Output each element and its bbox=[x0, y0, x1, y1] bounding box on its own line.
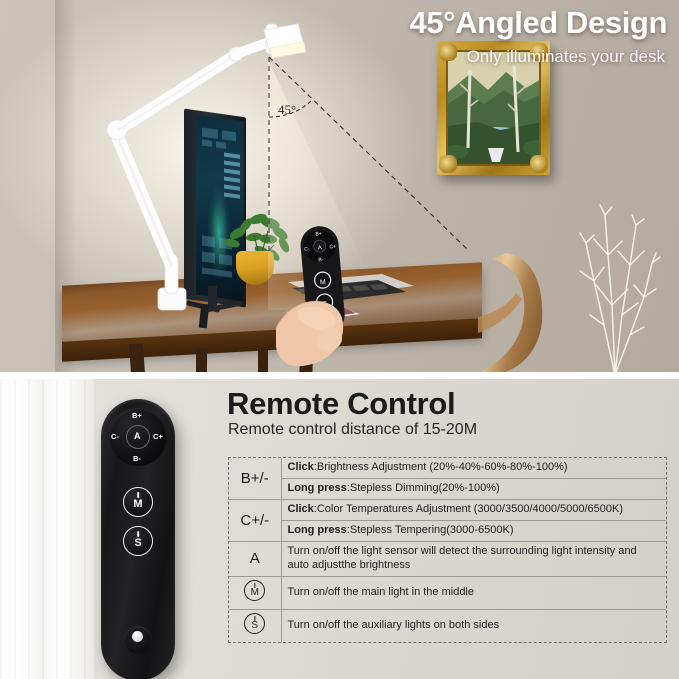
top-panel-scene: 45° bbox=[0, 0, 679, 372]
table-cell-description: Click:Brightness Adjustment (20%-40%-60%… bbox=[281, 458, 666, 478]
table-cell-description: Long press:Stepless Tempering(3000-6500K… bbox=[281, 520, 666, 541]
table-cell-description: Long press:Stepless Dimming(20%-100%) bbox=[281, 478, 666, 499]
power-glyph-letter: M bbox=[245, 588, 264, 598]
svg-text:C-: C- bbox=[304, 246, 310, 252]
panel-divider bbox=[0, 372, 679, 379]
cell-lead-label: Long press bbox=[288, 482, 347, 494]
svg-text:B-: B- bbox=[318, 257, 324, 263]
svg-text:B+: B+ bbox=[315, 231, 322, 238]
remote-function-table: B+/-Click:Brightness Adjustment (20%-40%… bbox=[228, 457, 667, 643]
table-cell-description: Turn on/off the main light in the middle bbox=[281, 576, 666, 609]
painting-canvas bbox=[446, 50, 541, 166]
wooden-chair bbox=[478, 243, 550, 372]
table-row-key: B+/- bbox=[229, 458, 281, 499]
pad-label-brightness-down: B- bbox=[133, 454, 141, 463]
pad-label-color-up: C+ bbox=[153, 432, 163, 441]
table-row: C+/-Click:Color Temperatures Adjustment … bbox=[229, 499, 666, 520]
table-row: MTurn on/off the main light in the middl… bbox=[229, 576, 666, 609]
table-row: Long press:Stepless Tempering(3000-6500K… bbox=[229, 520, 666, 541]
decorative-branches bbox=[560, 185, 670, 372]
cell-lead-label: Click bbox=[288, 461, 314, 473]
main-light-glyph: M bbox=[133, 499, 142, 510]
table-cell-description: Turn on/off the light sensor will detect… bbox=[281, 541, 666, 576]
power-glyph-letter: S bbox=[245, 621, 264, 631]
side-light-button[interactable]: S bbox=[123, 526, 153, 556]
table-row-key: S bbox=[229, 609, 281, 642]
main-light-button[interactable]: M bbox=[123, 487, 153, 517]
angle-label: 45° bbox=[278, 102, 296, 118]
table-cell-description: Turn on/off the auxiliary lights on both… bbox=[281, 609, 666, 642]
table-cell-description: Click:Color Temperatures Adjustment (300… bbox=[281, 499, 666, 520]
table-row: ATurn on/off the light sensor will detec… bbox=[229, 541, 666, 576]
table-row-key: A bbox=[229, 541, 281, 576]
subheadline-only-illuminates-desk: Only illuminates your desk bbox=[467, 47, 665, 67]
remote-control-title: Remote Control bbox=[227, 386, 455, 422]
ir-led-indicator bbox=[124, 626, 152, 654]
svg-text:M: M bbox=[320, 279, 327, 286]
power-s-icon: S bbox=[244, 613, 265, 634]
headline-45-angled-design: 45°Angled Design bbox=[410, 5, 668, 41]
table-row-key: M bbox=[229, 576, 281, 609]
cell-lead-label: Click bbox=[288, 503, 314, 515]
hand-holding-remote: B+ B- C- C+ A M S bbox=[276, 224, 396, 372]
table-row: B+/-Click:Brightness Adjustment (20%-40%… bbox=[229, 458, 666, 478]
remote-control-subtitle: Remote control distance of 15-20M bbox=[228, 421, 477, 439]
table-row: Long press:Stepless Dimming(20%-100%) bbox=[229, 478, 666, 499]
cell-lead-label: Long press bbox=[288, 524, 347, 536]
remote-control-device: B+ B- C- C+ A M S bbox=[101, 399, 175, 679]
ir-led-dot bbox=[132, 631, 143, 642]
directional-pad[interactable]: B+ B- C- C+ A bbox=[109, 408, 167, 466]
side-light-glyph: S bbox=[134, 538, 141, 549]
power-m-icon: M bbox=[244, 580, 265, 601]
desk-leg bbox=[129, 344, 145, 372]
svg-text:C+: C+ bbox=[329, 244, 336, 251]
pad-label-brightness-up: B+ bbox=[132, 411, 142, 420]
frame-ornament bbox=[530, 155, 548, 173]
frame-ornament bbox=[439, 43, 457, 61]
table-row-key: C+/- bbox=[229, 499, 281, 541]
frame-ornament bbox=[439, 155, 457, 173]
table-row: STurn on/off the auxiliary lights on bot… bbox=[229, 609, 666, 642]
pad-label-auto: A bbox=[134, 431, 141, 441]
curtain-background bbox=[0, 379, 94, 679]
product-infographic: 45° bbox=[0, 0, 679, 679]
pad-label-color-down: C- bbox=[111, 432, 119, 441]
